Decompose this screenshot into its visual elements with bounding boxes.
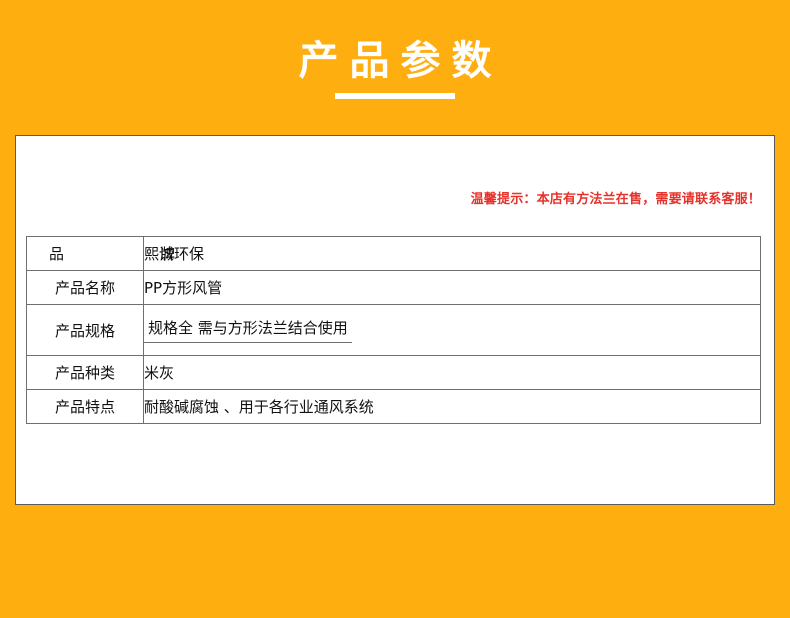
spec-label: 产品种类: [55, 362, 115, 383]
table-row: 品 牌 熙诚环保: [27, 237, 761, 271]
spec-value-cell: 米灰: [144, 356, 761, 390]
spec-value-cell: 耐酸碱腐蚀 、用于各行业通风系统: [144, 390, 761, 424]
spec-value: 规格全 需与方形法兰结合使用: [144, 317, 352, 343]
spec-table-body: 品 牌 熙诚环保 产品名称 PP方形风管 产品规格 规格全 需: [27, 237, 761, 424]
page-header: 产品参数: [0, 0, 790, 135]
spec-label: 产品特点: [55, 396, 115, 417]
spec-label: 产品规格: [55, 320, 115, 341]
spec-value-cell: 熙诚环保: [144, 237, 761, 271]
table-row: 产品特点 耐酸碱腐蚀 、用于各行业通风系统: [27, 390, 761, 424]
title-underline-bar: [335, 93, 455, 99]
table-row: 产品规格 规格全 需与方形法兰结合使用: [27, 305, 761, 356]
table-row: 产品种类 米灰: [27, 356, 761, 390]
product-spec-table: 品 牌 熙诚环保 产品名称 PP方形风管 产品规格 规格全 需: [26, 236, 761, 424]
spec-label-cell: 产品规格: [27, 305, 144, 356]
spec-label-cell: 产品名称: [27, 271, 144, 305]
spec-label-cell: 品 牌: [27, 237, 144, 271]
notice-row: 温馨提示：本店有方法兰在售，需要请联系客服！: [16, 188, 774, 207]
page-title: 产品参数: [288, 36, 503, 86]
content-panel: 温馨提示：本店有方法兰在售，需要请联系客服！ 品 牌 熙诚环保 产品名称 PP方…: [15, 135, 775, 505]
spec-value: PP方形风管: [144, 279, 222, 297]
spec-value: 耐酸碱腐蚀 、用于各行业通风系统: [144, 398, 374, 416]
spec-label-cell: 产品特点: [27, 390, 144, 424]
table-row: 产品名称 PP方形风管: [27, 271, 761, 305]
spec-value: 熙诚环保: [144, 245, 204, 263]
notice-text: 温馨提示：本店有方法兰在售，需要请联系客服！: [471, 192, 761, 207]
spec-value-cell: 规格全 需与方形法兰结合使用: [144, 305, 761, 356]
spec-value-cell: PP方形风管: [144, 271, 761, 305]
spec-label: 产品名称: [55, 277, 115, 298]
spec-value: 米灰: [144, 364, 174, 382]
spec-label-cell: 产品种类: [27, 356, 144, 390]
